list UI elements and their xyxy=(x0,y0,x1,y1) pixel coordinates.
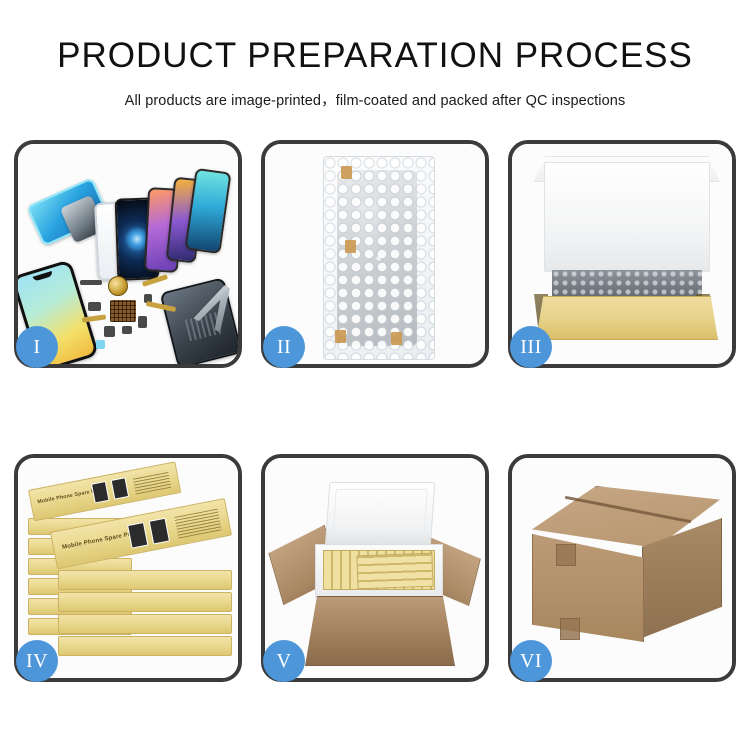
box-artwork-swatch xyxy=(111,477,130,499)
small-part-icon xyxy=(122,326,132,334)
process-step-grid: I II xyxy=(14,140,736,682)
process-step-panel-4: Mobile Phone Spare Parts Mobile Phone Sp… xyxy=(14,454,242,682)
grid-chip-part-icon xyxy=(110,300,136,322)
process-step-panel-3: III xyxy=(508,140,736,368)
yellow-box-base-icon xyxy=(536,296,718,340)
boxed-units-icon xyxy=(356,553,433,590)
page-title: PRODUCT PREPARATION PROCESS xyxy=(0,38,750,75)
step-badge-5: V xyxy=(263,640,305,682)
step-badge-6: VI xyxy=(510,640,552,682)
styrofoam-lid-icon xyxy=(325,482,436,548)
tape-piece-icon xyxy=(341,166,352,179)
step-badge-2: II xyxy=(263,326,305,368)
carton-front-face-icon xyxy=(532,534,644,642)
header: PRODUCT PREPARATION PROCESS All products… xyxy=(0,0,750,110)
stacked-box xyxy=(58,614,232,634)
box-artwork-swatch xyxy=(127,522,148,549)
page-subtitle: All products are image-printed，film-coat… xyxy=(0,89,750,110)
bubble-wrap-texture xyxy=(324,157,434,359)
box-artwork-swatch xyxy=(149,518,170,545)
tape-piece-icon xyxy=(391,332,402,345)
tape-piece-icon xyxy=(335,330,346,343)
process-step-panel-1: I xyxy=(14,140,242,368)
small-part-icon xyxy=(88,302,101,311)
small-part-icon xyxy=(138,316,147,328)
stacked-box xyxy=(58,592,232,612)
small-part-icon xyxy=(80,280,102,285)
box-stack: Mobile Phone Spare Parts Mobile Phone Sp… xyxy=(28,476,236,672)
step-badge-3: III xyxy=(510,326,552,368)
small-part-icon xyxy=(104,326,115,337)
carton-tape-icon xyxy=(560,618,580,640)
carton-body-icon xyxy=(305,596,455,666)
white-foam-lid-icon xyxy=(544,162,710,272)
step-badge-1: I xyxy=(16,326,58,368)
product-preparation-page: PRODUCT PREPARATION PROCESS All products… xyxy=(0,0,750,750)
box-artwork-swatch xyxy=(91,481,110,503)
box-text-block xyxy=(174,509,221,539)
step-badge-4: IV xyxy=(16,640,58,682)
process-step-panel-5: V xyxy=(261,454,489,682)
small-screen-part-icon xyxy=(96,340,105,349)
tape-piece-icon xyxy=(345,240,356,253)
process-step-panel-6: VI xyxy=(508,454,736,682)
stacked-box xyxy=(58,570,232,590)
process-step-panel-2: II xyxy=(261,140,489,368)
stacked-box xyxy=(58,636,232,656)
carton-tape-icon xyxy=(556,544,576,566)
gold-coil-part-icon xyxy=(108,276,128,296)
box-text-block xyxy=(132,470,171,495)
